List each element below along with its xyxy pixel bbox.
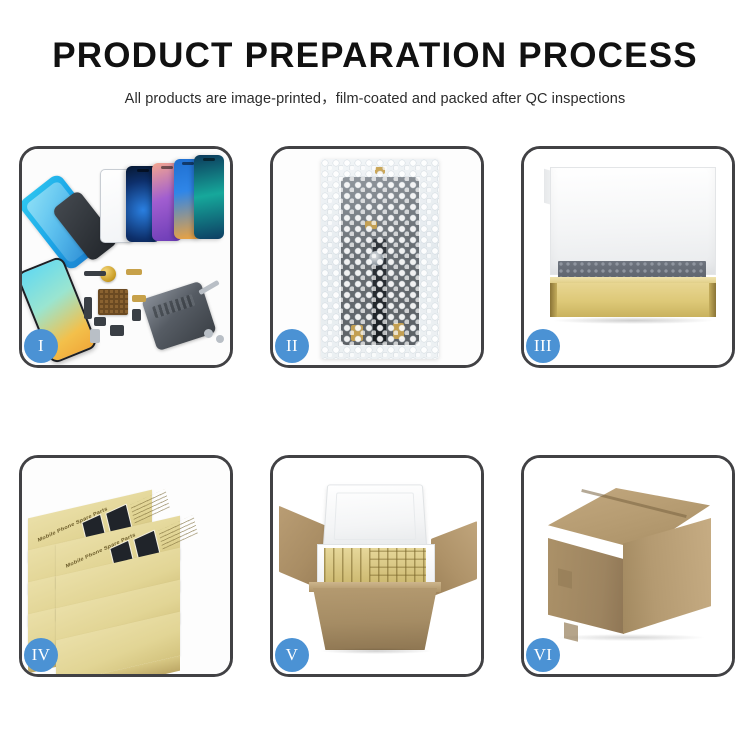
step-panel-6[interactable]: VI <box>521 455 735 677</box>
foam-lid-icon <box>323 484 428 550</box>
spare-part-icon <box>110 325 124 336</box>
carton-tape-patch <box>558 568 572 588</box>
carton-shadow <box>321 648 431 654</box>
process-steps-grid: I II <box>19 146 733 677</box>
step-panel-4[interactable]: Mobile Phone Spare Parts <box>19 455 233 677</box>
spare-part-icon <box>90 329 100 343</box>
carton-shadow <box>558 634 704 641</box>
step-image-6 <box>524 458 732 674</box>
page-subtitle: All products are image-printed，film-coat… <box>0 87 750 108</box>
step-badge-4: IV <box>24 638 58 672</box>
spare-part-icon <box>94 317 106 326</box>
step-badge-1: I <box>24 329 58 363</box>
spare-part-icon <box>132 309 141 321</box>
page-header: PRODUCT PREPARATION PROCESS All products… <box>0 0 750 108</box>
bubble-wrap-bag-icon <box>321 159 439 359</box>
box-spec-lines <box>158 515 198 550</box>
kraft-box-front-icon <box>550 283 716 317</box>
step-badge-3: III <box>526 329 560 363</box>
page-title: PRODUCT PREPARATION PROCESS <box>0 38 750 75</box>
step-badge-6: VI <box>526 638 560 672</box>
spare-part-icon <box>126 269 142 275</box>
carton-front-face <box>313 588 437 650</box>
bubble-texture <box>321 159 439 359</box>
step-image-3 <box>524 149 732 365</box>
phone-display-4-icon <box>194 155 224 239</box>
step-badge-2: II <box>275 329 309 363</box>
spare-part-icon <box>132 295 146 302</box>
notch-icon <box>203 158 215 161</box>
box-stack: Mobile Phone Spare Parts <box>28 470 228 666</box>
step-panel-5[interactable]: V <box>270 455 484 677</box>
step-panel-1[interactable]: I <box>19 146 233 368</box>
screw-icon <box>216 335 224 343</box>
notch-icon <box>161 166 173 169</box>
box-shadow <box>554 317 712 324</box>
chip-grid-icon <box>98 289 128 315</box>
spare-part-icon <box>84 271 106 276</box>
step-panel-3[interactable]: III <box>521 146 735 368</box>
screw-icon <box>204 329 213 338</box>
step-image-1 <box>22 149 230 365</box>
notch-icon <box>137 169 149 172</box>
step-image-5 <box>273 458 481 674</box>
step-image-2 <box>273 149 481 365</box>
spare-part-icon <box>84 297 92 319</box>
step-panel-2[interactable]: II <box>270 146 484 368</box>
white-box-lid-icon <box>550 167 716 275</box>
inner-boxes-icon <box>324 548 426 584</box>
step-badge-5: V <box>275 638 309 672</box>
notch-icon <box>182 162 194 165</box>
step-image-4: Mobile Phone Spare Parts <box>22 458 230 674</box>
